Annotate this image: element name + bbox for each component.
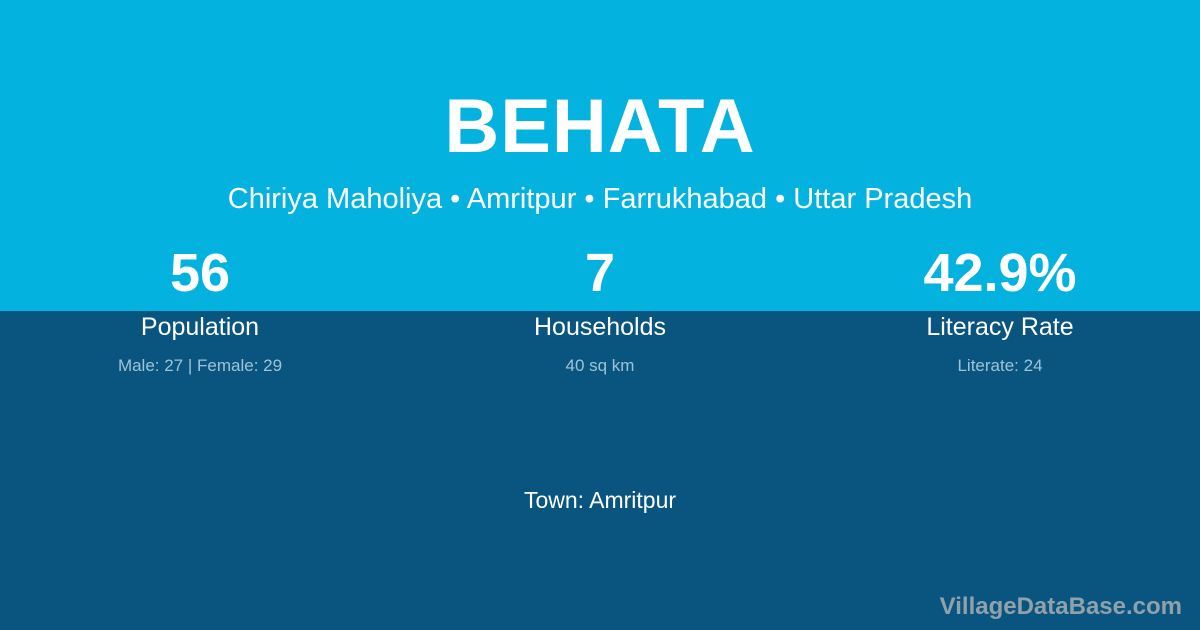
stat-population-value: 56 bbox=[60, 243, 340, 305]
town-detail: Town: Amritpur bbox=[0, 485, 1200, 515]
page-title: BEHATA bbox=[0, 82, 1200, 172]
stat-households-sub: 40 sq km bbox=[460, 355, 740, 377]
stat-literacy-rate: 42.9% Literacy Rate Literate: 24 bbox=[860, 243, 1140, 377]
stat-households: 7 Households 40 sq km bbox=[460, 243, 740, 377]
stat-households-value: 7 bbox=[460, 243, 740, 305]
breadcrumb: Chiriya Maholiya • Amritpur • Farrukhaba… bbox=[0, 181, 1200, 217]
stat-literacy-rate-sub: Literate: 24 bbox=[860, 355, 1140, 377]
stat-households-label: Households bbox=[460, 311, 740, 343]
stat-literacy-rate-value: 42.9% bbox=[860, 243, 1140, 305]
site-watermark: VillageDataBase.com bbox=[940, 592, 1182, 622]
stat-population: 56 Population Male: 27 | Female: 29 bbox=[60, 243, 340, 377]
village-info-card: BEHATA Chiriya Maholiya • Amritpur • Far… bbox=[0, 0, 1200, 630]
stat-population-label: Population bbox=[60, 311, 340, 343]
stat-population-sub: Male: 27 | Female: 29 bbox=[60, 355, 340, 377]
stats-row: 56 Population Male: 27 | Female: 29 7 Ho… bbox=[0, 243, 1200, 377]
stat-literacy-rate-label: Literacy Rate bbox=[860, 311, 1140, 343]
